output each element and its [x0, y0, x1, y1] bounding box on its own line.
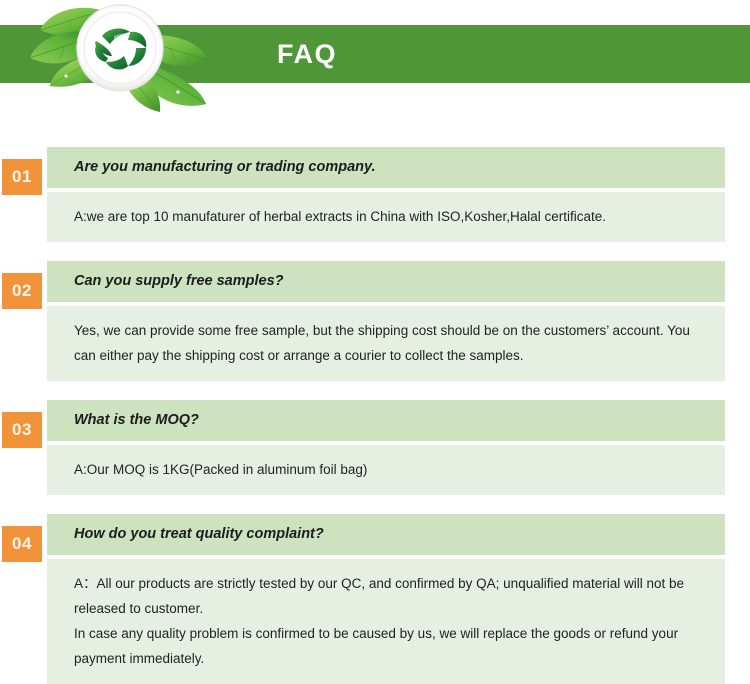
faq-item: 02 Can you supply free samples? Yes, we … [0, 261, 750, 381]
faq-answer: Yes, we can provide some free sample, bu… [47, 306, 725, 381]
faq-number-badge: 03 [2, 412, 42, 448]
faq-answer: A：All our products are strictly tested b… [47, 559, 725, 684]
faq-body: What is the MOQ? A:Our MOQ is 1KG(Packed… [47, 400, 725, 495]
faq-question: How do you treat quality complaint? [47, 514, 725, 555]
faq-item: 01 Are you manufacturing or trading comp… [0, 147, 750, 242]
faq-body: Are you manufacturing or trading company… [47, 147, 725, 242]
faq-list: 01 Are you manufacturing or trading comp… [0, 120, 750, 684]
faq-body: How do you treat quality complaint? A：Al… [47, 514, 725, 684]
faq-item: 03 What is the MOQ? A:Our MOQ is 1KG(Pac… [0, 400, 750, 495]
faq-question: Can you supply free samples? [47, 261, 725, 302]
page-header: FAQ [0, 0, 750, 120]
leaf-recycle-logo [10, 0, 225, 115]
faq-number-badge: 02 [2, 273, 42, 309]
faq-answer: A:we are top 10 manufaturer of herbal ex… [47, 192, 725, 242]
faq-number-badge: 04 [2, 526, 42, 562]
faq-body: Can you supply free samples? Yes, we can… [47, 261, 725, 381]
faq-number-badge: 01 [2, 159, 42, 195]
faq-question: What is the MOQ? [47, 400, 725, 441]
page-title: FAQ [277, 38, 337, 70]
faq-item: 04 How do you treat quality complaint? A… [0, 514, 750, 684]
faq-answer: A:Our MOQ is 1KG(Packed in aluminum foil… [47, 445, 725, 495]
faq-question: Are you manufacturing or trading company… [47, 147, 725, 188]
